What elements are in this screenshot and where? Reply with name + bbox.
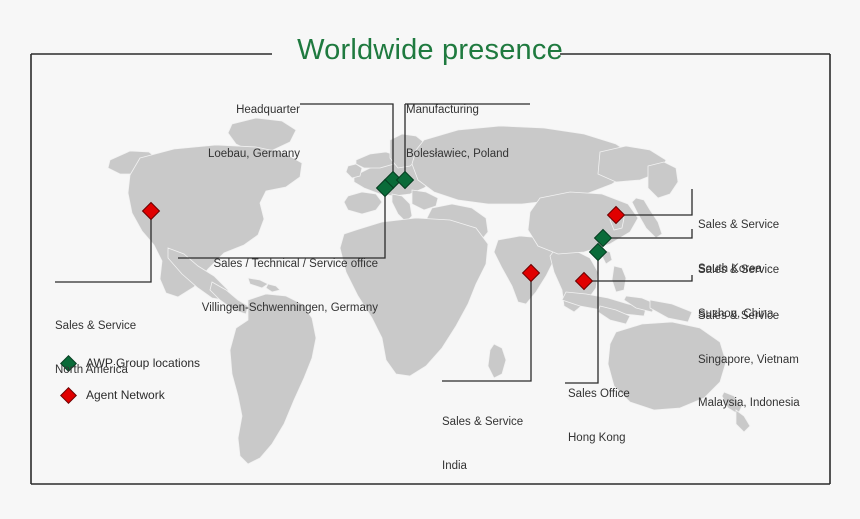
- label-headquarter-line2: Loebau, Germany: [150, 147, 300, 162]
- label-singapore-line3: Malaysia, Indonesia: [698, 396, 858, 411]
- label-villingen-line1: Sales / Technical / Service office: [140, 257, 378, 272]
- label-singapore-line1: Sales & Service: [698, 309, 858, 324]
- label-south-korea-line1: Sales & Service: [698, 218, 848, 233]
- legend-item-agent-label: Agent Network: [86, 388, 165, 402]
- label-india-line1: Sales & Service: [442, 415, 582, 430]
- label-headquarter-line1: Headquarter: [150, 103, 300, 118]
- label-manufacturing: Manufacturing Bolesławiec, Poland: [406, 74, 596, 190]
- label-india-line2: India: [442, 459, 582, 474]
- label-singapore: Sales & Service Singapore, Vietnam Malay…: [698, 280, 858, 440]
- label-hong-kong-line2: Hong Kong: [568, 431, 698, 446]
- label-manufacturing-line2: Bolesławiec, Poland: [406, 147, 596, 162]
- label-india: Sales & Service India: [442, 386, 582, 502]
- label-hong-kong-line1: Sales Office: [568, 387, 698, 402]
- page-title: Worldwide presence: [0, 34, 860, 67]
- label-north-america-line1: Sales & Service: [55, 319, 225, 334]
- label-manufacturing-line1: Manufacturing: [406, 103, 596, 118]
- label-headquarter: Headquarter Loebau, Germany: [150, 74, 300, 190]
- label-singapore-line2: Singapore, Vietnam: [698, 353, 858, 368]
- legend-item-awp-label: AWP Group locations: [86, 356, 200, 370]
- label-suzhou-line1: Sales & Service: [698, 263, 848, 278]
- worldwide-presence-infographic: Worldwide presence Headquarter Loebau, G…: [0, 0, 860, 519]
- label-hong-kong: Sales Office Hong Kong: [568, 358, 698, 474]
